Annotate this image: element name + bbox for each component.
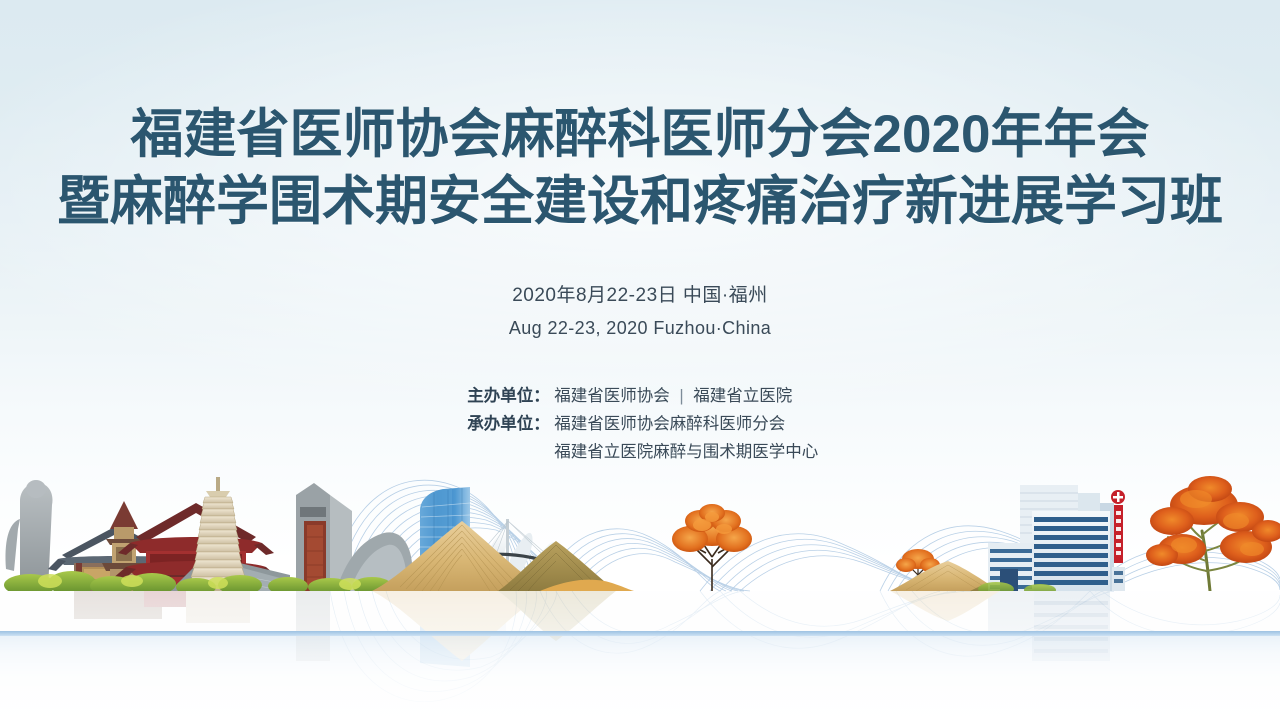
organizer-value-primary: 福建省医师协会 — [554, 387, 670, 405]
hospital-red-sign — [1114, 505, 1123, 563]
organizer-row: 主办单位： 福建省医师协会 | 福建省立医院 — [462, 382, 819, 410]
page-title-line-2: 暨麻醉学围术期安全建设和疼痛治疗新进展学习班 — [0, 175, 1280, 228]
organizer-row: 福建省立医院麻醉与围术期医学中心 — [462, 438, 819, 466]
organizer-label: 承办单位： — [462, 410, 550, 438]
conference-poster: 福建省医师协会麻醉科医师分会2020年年会 暨麻醉学围术期安全建设和疼痛治疗新进… — [0, 0, 1280, 719]
waterline — [0, 631, 1280, 636]
event-date-english: Aug 22-23, 2020 Fuzhou·China — [0, 315, 1280, 342]
large-maple-tree — [1146, 476, 1280, 591]
event-date-chinese: 2020年8月22-23日 中国·福州 — [0, 282, 1280, 311]
city-skyline-illustration — [0, 459, 1280, 719]
organizer-value-secondary: 福建省立医院 — [693, 387, 792, 405]
page-title-line-1: 福建省医师协会麻醉科医师分会2020年年会 — [0, 108, 1280, 161]
poster-text-block: 福建省医师协会麻醉科医师分会2020年年会 暨麻醉学围术期安全建设和疼痛治疗新进… — [0, 0, 1280, 467]
organizer-value-primary: 福建省医师协会麻醉科医师分会 — [554, 415, 785, 433]
organizer-separator: | — [674, 387, 688, 405]
organizer-value-primary: 福建省立医院麻醉与围术期医学中心 — [554, 443, 818, 461]
orange-autumn-tree — [672, 504, 752, 591]
hospital-cross-emblem — [1111, 490, 1125, 504]
organizer-block: 主办单位： 福建省医师协会 | 福建省立医院 承办单位： 福建省医师协会麻醉科医… — [462, 382, 819, 467]
organizer-label: 主办单位： — [462, 382, 550, 410]
event-date-block: 2020年8月22-23日 中国·福州 Aug 22-23, 2020 Fuzh… — [0, 282, 1280, 342]
fujian-provincial-hospital — [988, 485, 1125, 591]
organizer-row: 承办单位： 福建省医师协会麻醉科医师分会 — [462, 410, 819, 438]
